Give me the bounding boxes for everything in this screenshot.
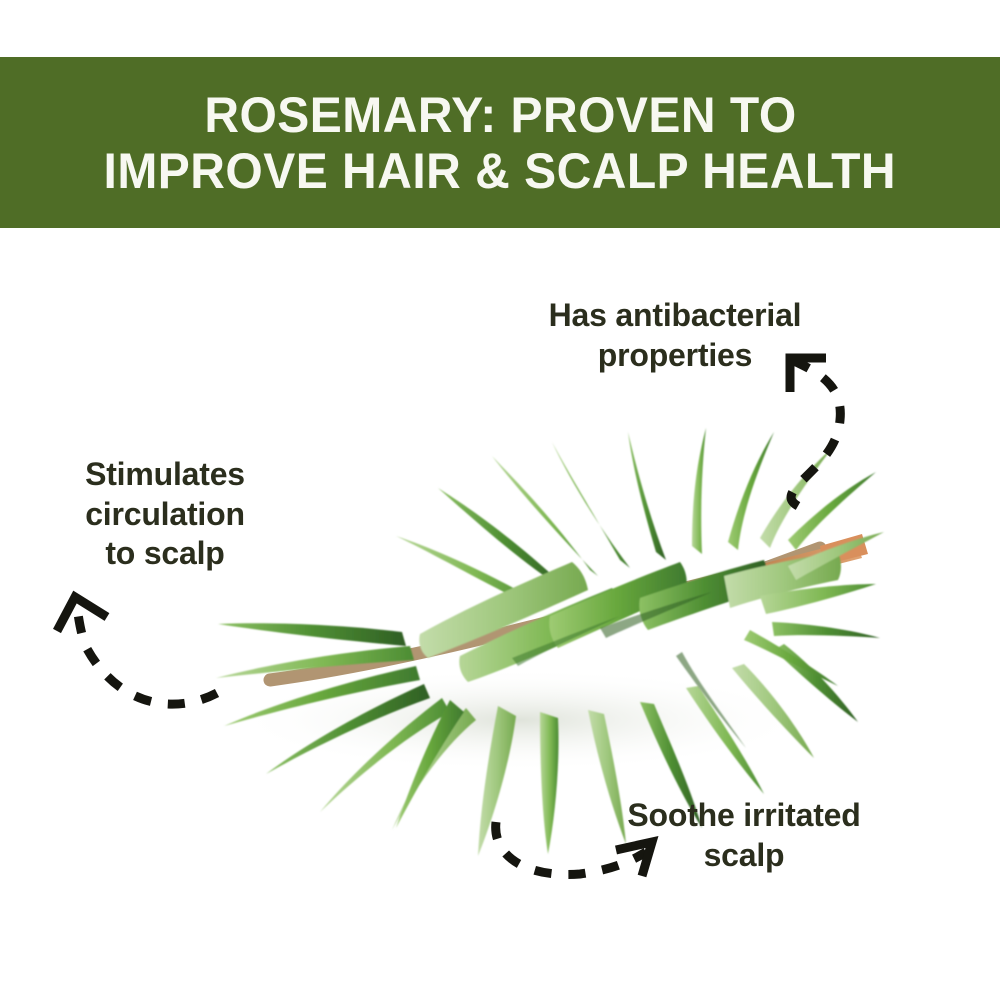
callout-circulation-label: Stimulates circulation to scalp	[42, 455, 288, 574]
header-banner: ROSEMARY: PROVEN TO IMPROVE HAIR & SCALP…	[0, 57, 1000, 228]
callout-soothe-label: Soothe irritated scalp	[594, 796, 894, 875]
infographic-canvas: ROSEMARY: PROVEN TO IMPROVE HAIR & SCALP…	[0, 0, 1000, 1000]
callout-antibacterial-label: Has antibacterial properties	[500, 296, 850, 375]
page-title-line-2: IMPROVE HAIR & SCALP HEALTH	[104, 143, 897, 199]
page-title-line-1: ROSEMARY: PROVEN TO	[204, 87, 796, 143]
